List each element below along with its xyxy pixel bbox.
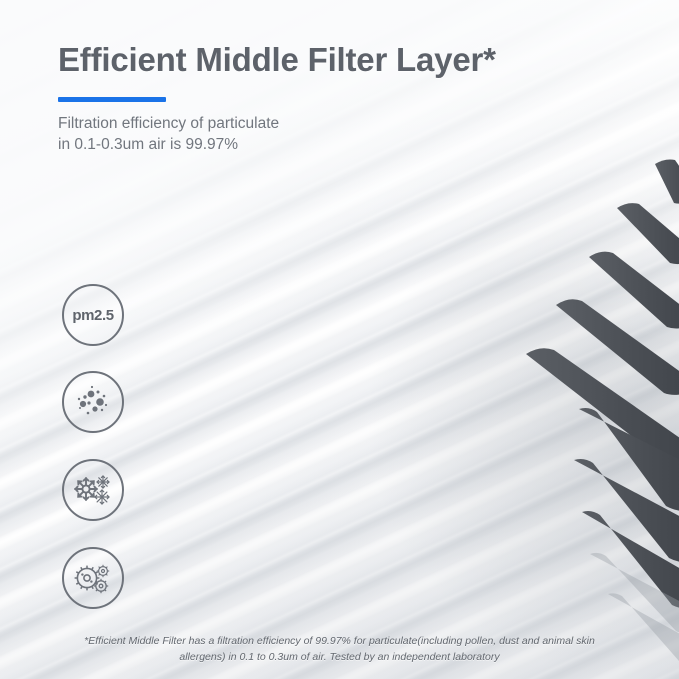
pleat-tip-3	[589, 252, 679, 329]
pleat-tip-8	[582, 511, 679, 609]
badge-pm25: pm2.5	[62, 284, 124, 346]
pleat-tip-1	[655, 160, 679, 204]
pleat-tip-6	[579, 408, 679, 511]
pleat-tip-ghost-2	[608, 593, 679, 663]
particles-icon	[71, 380, 115, 424]
page-subtitle: Filtration efficiency of particulate in …	[58, 113, 279, 155]
pleat-tips	[526, 160, 679, 610]
page-title: Efficient Middle Filter Layer*	[58, 41, 496, 79]
pleat-tip-2	[617, 203, 679, 264]
pm25-icon: pm2.5	[72, 307, 113, 324]
pleat-tip-4	[556, 299, 679, 395]
pleat-tip-5	[526, 348, 679, 461]
badge-dust	[62, 371, 124, 433]
snowflake-icon	[70, 467, 116, 513]
gears-icon	[70, 555, 116, 601]
disclaimer-text: *Efficient Middle Filter has a filtratio…	[70, 633, 610, 665]
badge-germs	[62, 547, 124, 609]
accent-rule	[58, 97, 166, 102]
product-feature-image: Efficient Middle Filter Layer* Filtratio…	[0, 0, 679, 679]
pleat-tip-ghost-1	[590, 553, 679, 635]
pleat-tip-7	[574, 459, 679, 562]
badge-pollen	[62, 459, 124, 521]
